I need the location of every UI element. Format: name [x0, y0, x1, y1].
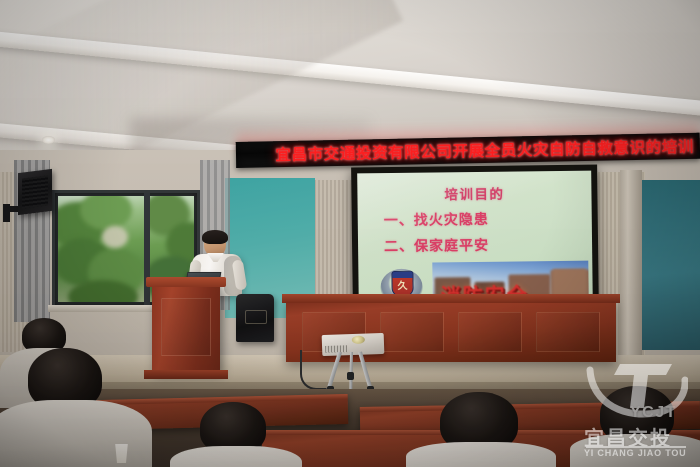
projection-screen: 培训目的 一、找火灾隐患 二、保家庭平安 久 消防安全	[351, 165, 599, 314]
slide-title: 培训目的	[357, 182, 591, 205]
table-panel	[458, 312, 522, 352]
projector-vent	[325, 345, 347, 353]
stage-chair	[236, 294, 274, 342]
projector-lens-icon	[352, 336, 365, 344]
emblem-glyph: 久	[397, 281, 409, 293]
podium	[152, 284, 220, 372]
wall-speaker	[18, 169, 52, 215]
downlight-icon	[42, 136, 55, 144]
presenter-hair	[202, 230, 228, 244]
window-mullion	[144, 193, 150, 305]
tripod-knob	[347, 372, 354, 380]
teal-wall-accent-right	[640, 180, 700, 350]
audience-shoulders	[170, 446, 302, 467]
audience-shoulders	[570, 434, 700, 467]
table-panel	[536, 312, 600, 352]
chair-crest	[245, 310, 267, 324]
podium-top	[146, 277, 226, 287]
audience-shoulders	[406, 442, 556, 467]
audience-shoulders	[0, 400, 152, 467]
podium-base	[144, 370, 228, 379]
training-photo-scene: 宜昌市交通投资有限公司开展全员火灾自防自救意识的培训 培训目的 一、找火灾隐患 …	[0, 0, 700, 467]
slide-bullet-1: 一、找火灾隐患	[384, 209, 489, 230]
window-pane	[58, 196, 144, 302]
projector	[322, 333, 385, 356]
slide-bullet-2: 二、保家庭平安	[384, 235, 489, 256]
head-table-top	[282, 294, 620, 303]
speaker-grill	[22, 175, 48, 208]
wall-pillar	[620, 170, 642, 355]
slide-surface: 培训目的 一、找火灾隐患 二、保家庭平安 久 消防安全	[357, 171, 593, 309]
podium-panel	[161, 298, 211, 356]
table-panel	[380, 312, 444, 352]
